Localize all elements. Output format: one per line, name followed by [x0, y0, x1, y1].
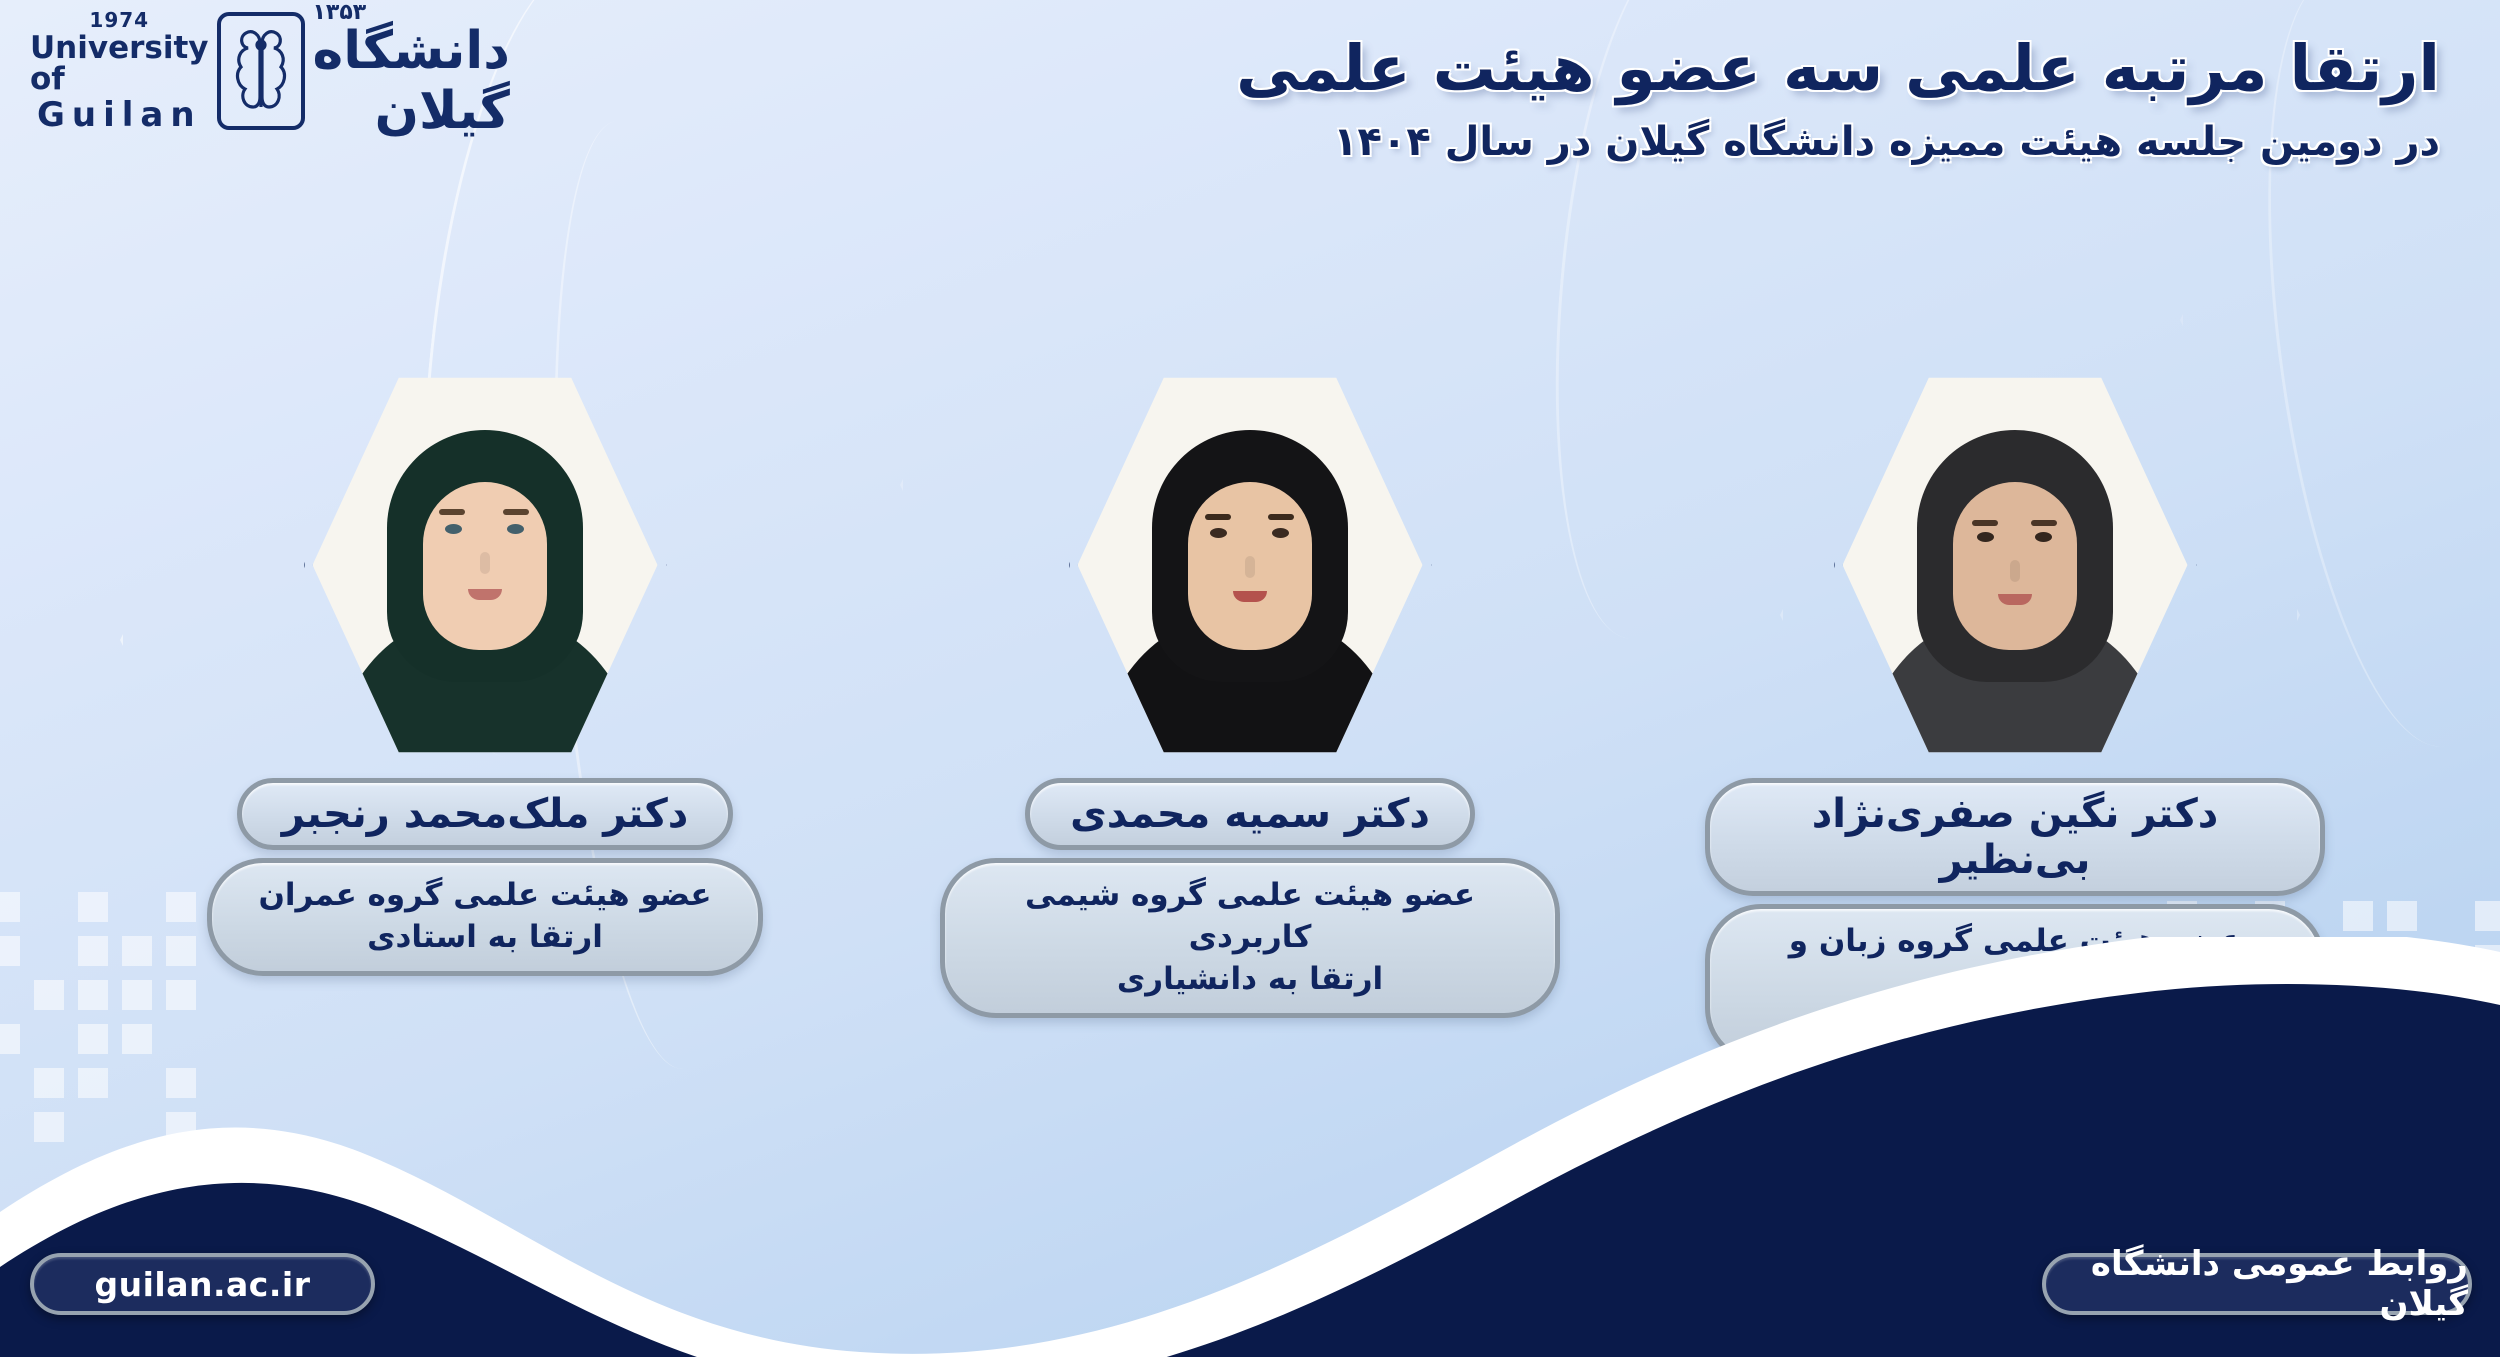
logo-guilan: Guilan — [37, 98, 202, 132]
logo-english-text: 1974 University of Guilan — [30, 10, 209, 132]
portrait-frame — [1843, 370, 2188, 760]
poster-canvas: 1974 University of Guilan ۱۳۵۳ دانشگاه گ… — [0, 0, 2500, 1357]
faculty-name-plate: دکتر نگین صفری‌نژاد بی‌نظیر — [1705, 778, 2325, 896]
portrait-photo — [1843, 370, 2188, 760]
avatar — [1865, 400, 2165, 760]
logo-founding-year-en: 1974 — [89, 10, 149, 30]
header-text-block: ارتقا مرتبه علمی سه عضو هیئت علمی در دوم… — [1060, 30, 2440, 165]
portrait-photo — [1078, 370, 1423, 760]
logo-university-of: University of — [30, 33, 209, 95]
butterfly-emblem-icon — [217, 12, 305, 130]
faculty-department: عضو هیئت علمی گروه عمران — [258, 875, 711, 917]
portrait-photo — [313, 370, 658, 760]
faculty-name-plate: دکتر سمیه محمدی — [1025, 778, 1475, 850]
public-relations-badge: روابط عمومی دانشگاه گیلان — [2042, 1253, 2472, 1315]
portrait-frame — [313, 370, 658, 760]
page-subtitle: در دومین جلسه هیئت ممیزه دانشگاه گیلان د… — [1060, 119, 2440, 165]
avatar — [335, 400, 635, 760]
university-logo: 1974 University of Guilan ۱۳۵۳ دانشگاه گ… — [30, 8, 500, 133]
portrait-frame — [1078, 370, 1423, 760]
page-title: ارتقا مرتبه علمی سه عضو هیئت علمی — [1060, 30, 2440, 109]
avatar — [1100, 400, 1400, 760]
website-badge[interactable]: guilan.ac.ir — [30, 1253, 375, 1315]
logo-persian-text: ۱۳۵۳ دانشگاه گیلان — [313, 0, 510, 141]
logo-university-name-fa: دانشگاه گیلان — [313, 21, 510, 141]
faculty-name-plate: دکتر ملک‌محمد رنجبر — [237, 778, 734, 850]
